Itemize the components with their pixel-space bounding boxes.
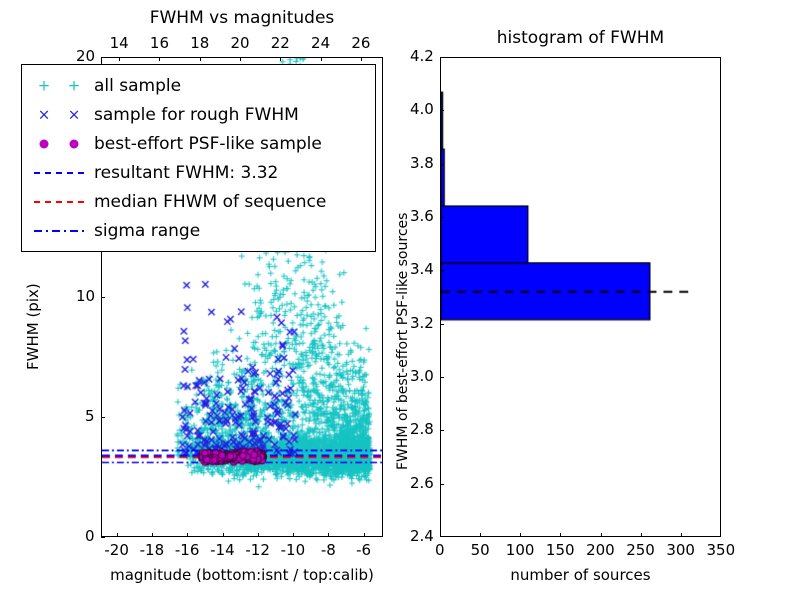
circle-icon	[70, 139, 79, 148]
right-y-tick-label: 3.2	[410, 314, 434, 332]
right-y-tick-label: 4.0	[410, 100, 434, 118]
legend-swatch-dashed	[28, 191, 90, 213]
left-bottom-tick	[117, 533, 118, 537]
right-x-tick	[720, 533, 721, 537]
left-bottom-tick-label: -8	[321, 541, 336, 559]
histogram-axes	[440, 57, 721, 537]
left-top-tick	[361, 57, 362, 61]
left-panel-ylabel: FWHM (pix)	[24, 283, 42, 370]
right-y-tick	[440, 110, 444, 111]
plus-icon: +	[68, 78, 81, 93]
right-y-tick	[440, 270, 444, 271]
right-y-tick	[440, 377, 444, 378]
right-y-tick	[440, 484, 444, 485]
left-bottom-tick-label: -16	[175, 541, 200, 559]
left-bottom-tick	[223, 533, 224, 537]
legend-label: sigma range	[90, 221, 200, 241]
left-top-tick	[119, 57, 120, 61]
left-y-tick	[101, 297, 105, 298]
left-bottom-tick-label: -18	[140, 541, 165, 559]
right-x-tick-label: 300	[666, 541, 695, 559]
legend-label: best-effort PSF-like sample	[90, 134, 322, 154]
left-y-tick	[101, 537, 105, 538]
legend-item: ++all sample	[28, 71, 367, 100]
legend-label: median FHWM of sequence	[90, 192, 326, 212]
legend-swatch-plus: ++	[28, 75, 90, 97]
left-bottom-tick	[152, 533, 153, 537]
left-bottom-tick	[258, 533, 259, 537]
left-bottom-tick-label: -10	[281, 541, 306, 559]
right-panel-title: histogram of FWHM	[440, 28, 721, 48]
right-x-tick-label: 250	[626, 541, 655, 559]
right-y-tick-label: 3.0	[410, 367, 434, 385]
left-top-tick	[159, 57, 160, 61]
right-x-tick-label: 100	[506, 541, 535, 559]
left-top-tick-label: 16	[150, 34, 169, 52]
plus-icon: +	[38, 78, 51, 93]
legend: ++all sample××sample for rough FWHMbest-…	[21, 64, 376, 252]
right-x-tick-label: 50	[471, 541, 490, 559]
left-y-tick	[101, 417, 105, 418]
left-top-tick	[200, 57, 201, 61]
left-bottom-tick-label: -20	[104, 541, 129, 559]
left-top-tick-label: 14	[110, 34, 129, 52]
circle-icon	[40, 139, 49, 148]
legend-label: sample for rough FWHM	[90, 105, 299, 125]
left-top-tick-label: 18	[190, 34, 209, 52]
legend-label: all sample	[90, 76, 181, 96]
left-top-tick	[321, 57, 322, 61]
legend-swatch-dashdot	[28, 220, 90, 242]
left-y-tick	[101, 57, 105, 58]
right-y-tick-label: 3.6	[410, 207, 434, 225]
left-top-tick-label: 26	[351, 34, 370, 52]
dashed-line-icon	[34, 201, 84, 203]
left-top-tick-label: 20	[230, 34, 249, 52]
cross-icon: ×	[38, 107, 51, 122]
right-y-tick	[440, 536, 444, 537]
cross-icon: ×	[68, 107, 81, 122]
left-bottom-tick	[364, 533, 365, 537]
right-y-tick	[440, 57, 444, 58]
legend-swatch-cross: ××	[28, 104, 90, 126]
right-x-tick	[681, 533, 682, 537]
right-y-tick	[440, 324, 444, 325]
right-y-tick-label: 2.8	[410, 420, 434, 438]
left-y-tick-label: 0	[85, 527, 95, 545]
legend-swatch-dashed	[28, 162, 90, 184]
legend-item: sigma range	[28, 216, 367, 245]
left-top-tick-label: 22	[271, 34, 290, 52]
right-y-tick-label: 3.8	[410, 154, 434, 172]
right-x-tick-label: 350	[707, 541, 736, 559]
right-x-tick	[520, 533, 521, 537]
left-bottom-tick-label: -14	[210, 541, 235, 559]
right-y-tick	[440, 217, 444, 218]
left-top-tick-label: 24	[311, 34, 330, 52]
right-x-tick	[560, 533, 561, 537]
legend-item: best-effort PSF-like sample	[28, 129, 367, 158]
legend-item: median FHWM of sequence	[28, 187, 367, 216]
left-top-tick	[240, 57, 241, 61]
right-y-tick-label: 4.2	[410, 47, 434, 65]
legend-swatch-dot	[28, 133, 90, 155]
right-y-tick-label: 3.4	[410, 260, 434, 278]
legend-item: ××sample for rough FWHM	[28, 100, 367, 129]
left-panel-xlabel: magnitude (bottom:isnt / top:calib)	[101, 566, 383, 584]
left-bottom-tick-label: -12	[245, 541, 270, 559]
left-panel-title: FWHM vs magnitudes	[101, 8, 383, 28]
legend-label: resultant FWHM: 3.32	[90, 163, 278, 183]
left-y-tick-label: 10	[76, 287, 95, 305]
dashed-line-icon	[34, 172, 84, 174]
left-bottom-tick	[328, 533, 329, 537]
right-x-tick-label: 200	[586, 541, 615, 559]
dashdot-line-icon	[34, 230, 84, 232]
left-top-tick	[280, 57, 281, 61]
left-bottom-tick-label: -6	[356, 541, 371, 559]
right-x-tick-label: 150	[546, 541, 575, 559]
histogram-plot-area	[441, 58, 720, 536]
right-x-tick	[480, 533, 481, 537]
left-y-tick-label: 5	[85, 407, 95, 425]
left-y-tick-label: 20	[76, 47, 95, 65]
right-y-tick-label: 2.6	[410, 474, 434, 492]
left-bottom-tick	[293, 533, 294, 537]
right-panel-xlabel: number of sources	[440, 566, 721, 584]
right-x-tick-label: 0	[435, 541, 445, 559]
legend-item: resultant FWHM: 3.32	[28, 158, 367, 187]
figure-canvas: FWHM vs magnitudes magnitude (bottom:isn…	[0, 0, 800, 600]
right-x-tick	[641, 533, 642, 537]
right-panel-ylabel: FWHM of best-effort PSF-like sources	[395, 213, 411, 470]
right-y-tick	[440, 164, 444, 165]
right-y-tick	[440, 430, 444, 431]
left-bottom-tick	[187, 533, 188, 537]
right-x-tick	[601, 533, 602, 537]
right-y-tick-label: 2.4	[410, 527, 434, 545]
